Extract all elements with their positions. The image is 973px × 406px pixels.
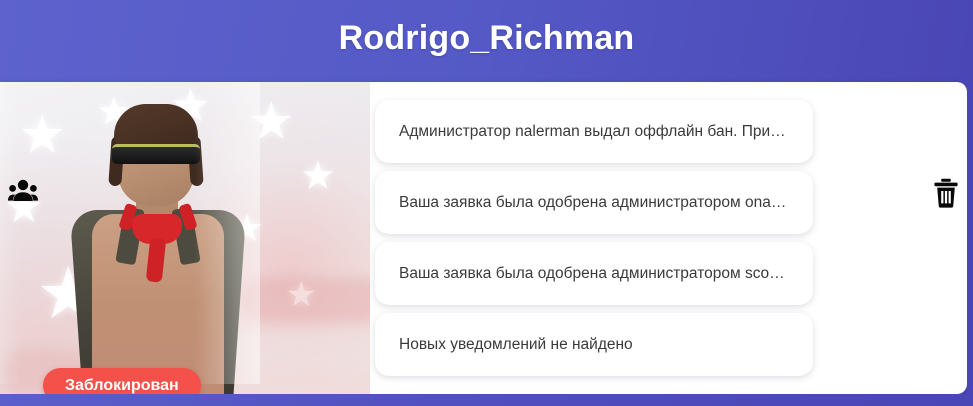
status-badge: Заблокирован: [43, 368, 201, 394]
flag-star-icon: ★: [300, 156, 336, 196]
notification-text: Ваша заявка была одобрена администраторо…: [399, 265, 785, 283]
avatar: ★ ★ ★ ★ ★ ★ ★ ★ ★ ★: [0, 82, 370, 394]
window-header: Rodrigo_Richman: [0, 0, 973, 82]
profile-window: Rodrigo_Richman ★ ★ ★ ★ ★ ★ ★ ★ ★ ★: [0, 0, 973, 406]
notification-text: Ваша заявка была одобрена администраторо…: [399, 194, 786, 212]
notification-text: Администратор nalerman выдал оффлайн бан…: [399, 123, 786, 141]
list-item[interactable]: Администратор nalerman выдал оффлайн бан…: [375, 100, 813, 163]
content-panel: ★ ★ ★ ★ ★ ★ ★ ★ ★ ★: [0, 82, 967, 394]
character-hair: [114, 104, 198, 148]
character-model: [60, 92, 270, 394]
notification-list: Администратор nalerman выдал оффлайн бан…: [375, 100, 813, 384]
page-title: Rodrigo_Richman: [339, 19, 635, 58]
users-group-icon[interactable]: [8, 178, 38, 202]
list-item[interactable]: Новых уведомлений не найдено: [375, 313, 813, 376]
bottom-edge-accent: [0, 394, 973, 406]
notification-text: Новых уведомлений не найдено: [399, 336, 633, 354]
list-item[interactable]: Ваша заявка была одобрена администраторо…: [375, 171, 813, 234]
right-edge-accent: [967, 82, 973, 406]
list-item[interactable]: Ваша заявка была одобрена администраторо…: [375, 242, 813, 305]
trash-icon[interactable]: [933, 178, 959, 208]
character-sunglasses: [112, 144, 200, 164]
